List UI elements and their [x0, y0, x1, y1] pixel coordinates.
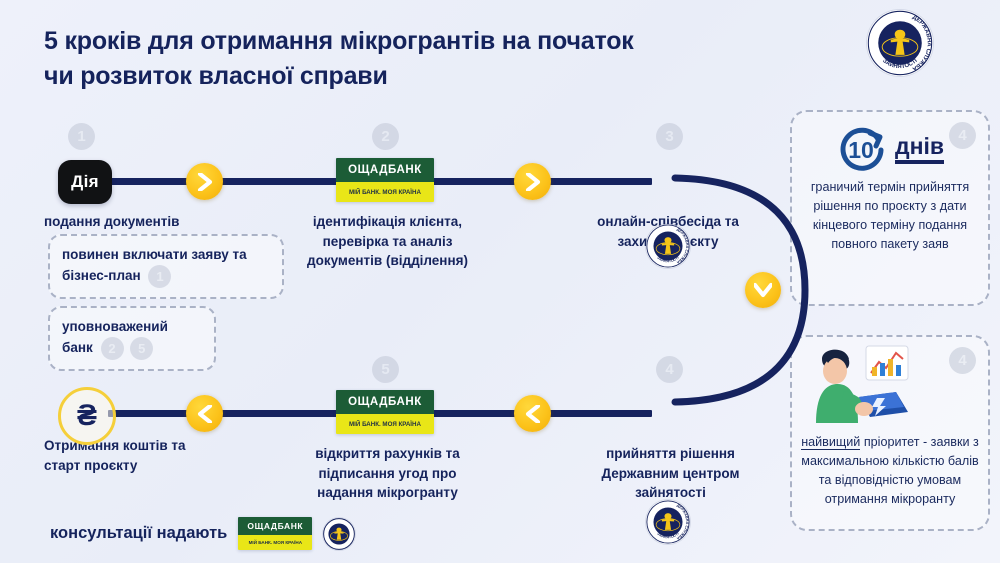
- step-number-2: 2: [372, 123, 399, 150]
- consultation-row: консультації надають ОЩАДБАНК МІЙ БАНК. …: [50, 517, 355, 550]
- panel-badge-2: 4: [949, 347, 976, 374]
- note-box-1: повинен включати заяву та бізнес-план 1: [48, 234, 284, 299]
- deadline-unit-label: днів: [895, 134, 944, 163]
- step-caption-5: відкриття рахунків та підписання угод пр…: [290, 444, 485, 503]
- emblem-footer: [323, 518, 355, 550]
- deadline-days-number: 10: [848, 137, 874, 163]
- emblem-graphic-small-3: ДЕРЖАВНА СЛУЖБА ЗАЙНЯТОСТІ: [646, 224, 690, 268]
- emblem-graphic: ДЕРЖАВНА СЛУЖБА ЗАЙНЯТОСТІ: [867, 10, 933, 76]
- oschadbank-name-2: ОЩАДБАНК: [336, 390, 434, 414]
- oschadbank-logo-bottom[interactable]: ОЩАДБАНК МІЙ БАНК. МОЯ КРАЇНА: [336, 390, 434, 434]
- emblem-step-3: ДЕРЖАВНА СЛУЖБА ЗАЙНЯТОСТІ: [646, 224, 690, 268]
- panel-priority: 4 найвищий пріоритет -: [790, 335, 990, 531]
- chevron-left-icon-2[interactable]: [186, 395, 223, 432]
- note-box-2: уповноважений банк 2 5: [48, 306, 216, 371]
- hryvnia-icon: ₴: [58, 387, 116, 445]
- oschadbank-logo-footer[interactable]: ОЩАДБАНК МІЙ БАНК. МОЯ КРАЇНА: [238, 517, 312, 550]
- dia-logo[interactable]: Дія: [58, 160, 112, 204]
- panel-badge-1: 4: [949, 122, 976, 149]
- step-caption-4: прийняття рішення Державним центром зайн…: [578, 444, 763, 503]
- note-badge-2a: 2: [101, 337, 124, 360]
- track-segment-1: [108, 178, 338, 185]
- panel-deadline: 4 10 днів граничий термін прийняття ріше…: [790, 110, 990, 306]
- note-badge-1a: 1: [148, 265, 171, 288]
- state-employment-service-emblem: ДЕРЖАВНА СЛУЖБА ЗАЙНЯТОСТІ: [867, 10, 933, 76]
- emblem-graphic-footer: [323, 518, 355, 550]
- chevron-right-icon-1[interactable]: [186, 163, 223, 200]
- step-number-3: 3: [656, 123, 683, 150]
- oschadbank-logo-top[interactable]: ОЩАДБАНК МІЙ БАНК. МОЯ КРАЇНА: [336, 158, 434, 202]
- chevron-right-icon-2[interactable]: [514, 163, 551, 200]
- step-number-5: 5: [372, 356, 399, 383]
- oschadbank-name: ОЩАДБАНК: [336, 158, 434, 182]
- chevron-down-icon[interactable]: [745, 272, 781, 308]
- priority-highlight: найвищий: [801, 435, 860, 450]
- track-curve: [600, 150, 820, 430]
- oschadbank-slogan-2: МІЙ БАНК. МОЯ КРАЇНА: [336, 414, 434, 434]
- page-title: 5 кроків для отримання мікрогрантів на п…: [44, 24, 644, 93]
- oschadbank-slogan-3: МІЙ БАНК. МОЯ КРАЇНА: [238, 535, 312, 550]
- panel-body-1: граничий термін прийняття рішення по про…: [792, 178, 988, 255]
- consultation-label: консультації надають: [50, 524, 227, 543]
- step-caption-2: ідентифікація клієнта, перевірка та анал…: [290, 212, 485, 271]
- emblem-graphic-small-4: ДЕРЖАВНА СЛУЖБА ЗАЙНЯТОСТІ: [646, 500, 690, 544]
- refresh-circle-icon: 10: [836, 126, 890, 172]
- step-number-1: 1: [68, 123, 95, 150]
- oschadbank-name-3: ОЩАДБАНК: [238, 517, 312, 535]
- panel-body-2: найвищий пріоритет - заявки з максимальн…: [800, 433, 980, 510]
- chevron-left-icon-1[interactable]: [514, 395, 551, 432]
- track-segment-3: [108, 410, 338, 417]
- step-caption-1: подання документів: [44, 212, 274, 232]
- person-laptop-chart-icon: [804, 343, 924, 429]
- oschadbank-slogan: МІЙ БАНК. МОЯ КРАЇНА: [336, 182, 434, 202]
- final-step-caption: Отримання коштів та старт проєкту: [44, 436, 214, 475]
- infographic-canvas: 5 кроків для отримання мікрогрантів на п…: [0, 0, 1000, 563]
- emblem-step-4: ДЕРЖАВНА СЛУЖБА ЗАЙНЯТОСТІ: [646, 500, 690, 544]
- note-badge-2b: 5: [130, 337, 153, 360]
